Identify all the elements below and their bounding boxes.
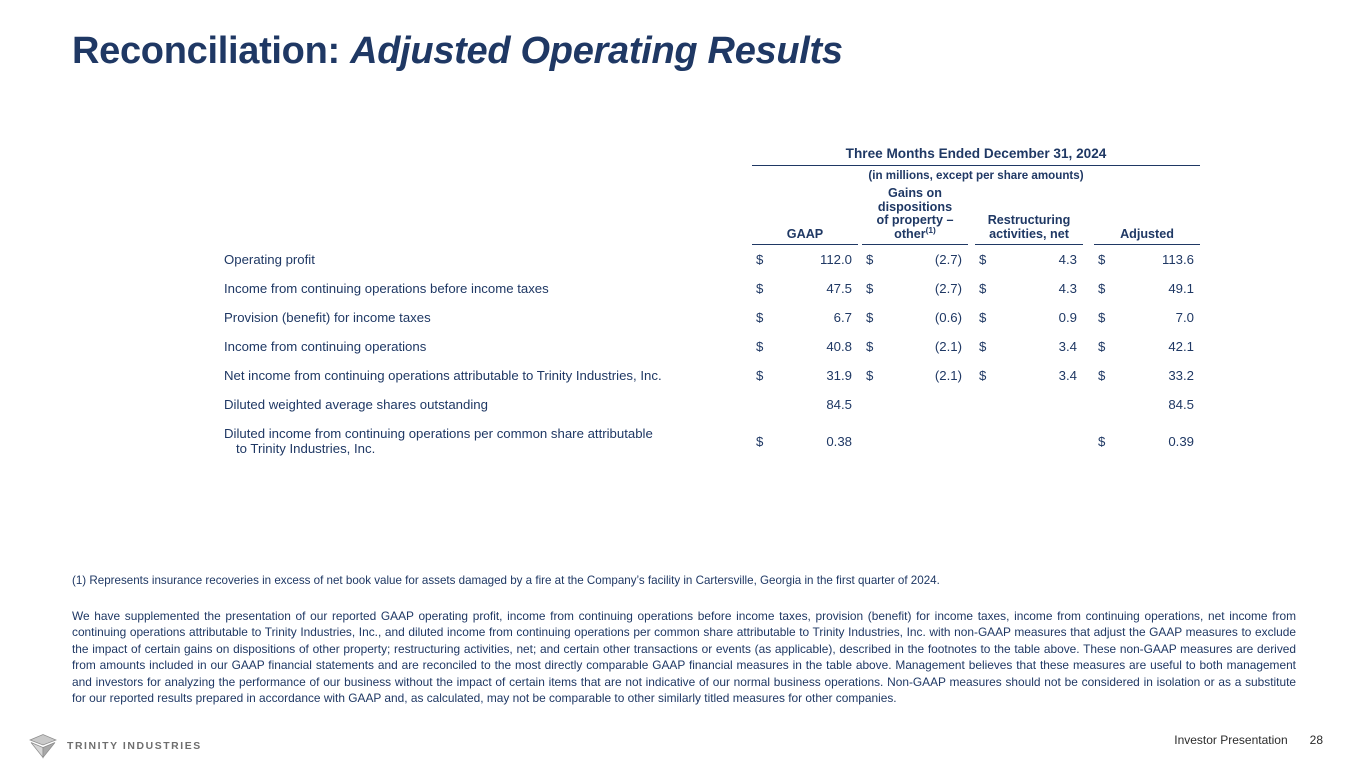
cell-gap [1083,274,1094,303]
row-label-line1: Operating profit [224,252,315,267]
cell-value: (0.6) [935,310,962,325]
header-spacer [222,146,752,166]
currency-symbol: $ [979,368,986,383]
row-label-line1: Provision (benefit) for income taxes [224,310,431,325]
cell-value: (2.1) [935,368,962,383]
period-header: Three Months Ended December 31, 2024 [752,146,1200,166]
cell-value: 0.39 [1168,434,1194,449]
row-label: Diluted weighted average shares outstand… [222,390,752,419]
cell-value: 42.1 [1168,339,1194,354]
gains-header-line4: other [894,227,925,241]
cell-adjusted: 84.5 [1094,390,1200,419]
column-gap-3 [1083,187,1094,245]
table-row: Operating profit$112.0$(2.7)$4.3$113.6 [222,245,1200,275]
row-label: Net income from continuing operations at… [222,361,752,390]
table-head: Three Months Ended December 31, 2024 (in… [222,146,1200,245]
row-label-line1: Diluted weighted average shares outstand… [224,397,488,412]
cell-value: (2.7) [935,281,962,296]
column-header-restructuring: Restructuring activities, net [975,187,1083,245]
footnote-text: (1) Represents insurance recoveries in e… [72,573,1296,588]
cell-value: 4.3 [1059,252,1077,267]
restructuring-header-line1: Restructuring [988,213,1071,227]
cell-value: 112.0 [820,252,852,267]
column-header-gaap: GAAP [752,187,858,245]
cell-adjusted: $113.6 [1094,245,1200,275]
cell-restructuring: $0.9 [975,303,1083,332]
cell-adjusted: $42.1 [1094,332,1200,361]
row-label: Operating profit [222,245,752,275]
currency-symbol: $ [866,310,873,325]
cell-gap [968,245,975,275]
currency-symbol: $ [866,281,873,296]
presentation-label: Investor Presentation [1174,733,1287,747]
cell-gap [968,332,975,361]
table-body: Operating profit$112.0$(2.7)$4.3$113.6In… [222,245,1200,464]
cell-adjusted: $7.0 [1094,303,1200,332]
gains-header-line2: dispositions [878,200,952,214]
currency-symbol: $ [756,281,763,296]
cell-value: 0.38 [826,434,852,449]
cell-gap [1083,332,1094,361]
cell-gains-on-dispositions: $(0.6) [862,303,968,332]
reconciliation-table: Three Months Ended December 31, 2024 (in… [222,146,1200,463]
restructuring-header-line2: activities, net [989,227,1069,241]
currency-symbol: $ [979,310,986,325]
gains-header-line1: Gains on [888,186,942,200]
row-label-line1: Income from continuing operations before… [224,281,549,296]
currency-symbol: $ [1098,434,1105,449]
currency-symbol: $ [756,434,763,449]
currency-symbol: $ [756,310,763,325]
currency-symbol: $ [1098,339,1105,354]
row-label: Income from continuing operations before… [222,274,752,303]
cell-adjusted: $33.2 [1094,361,1200,390]
currency-symbol: $ [756,252,763,267]
cell-gap [968,303,975,332]
cell-value: 47.5 [826,281,852,296]
row-label: Provision (benefit) for income taxes [222,303,752,332]
currency-symbol: $ [979,252,986,267]
cell-gaap: $31.9 [752,361,858,390]
cell-gains-on-dispositions: $(2.7) [862,245,968,275]
reconciliation-table-wrapper: Three Months Ended December 31, 2024 (in… [0,146,1365,463]
table-row: Income from continuing operations before… [222,274,1200,303]
units-header-row: (in millions, except per share amounts) [222,166,1200,188]
currency-symbol: $ [756,339,763,354]
cell-gaap: $0.38 [752,419,858,463]
row-label-line2: to Trinity Industries, Inc. [224,441,742,456]
cell-value: 40.8 [826,339,852,354]
column-header-row: GAAP Gains on dispositions of property –… [222,187,1200,245]
cell-gap [1083,361,1094,390]
cell-gains-on-dispositions [862,419,968,463]
footer-logo-text: TRINITY INDUSTRIES [67,741,202,752]
header-spacer-3 [222,187,752,245]
table-row: Income from continuing operations$40.8$(… [222,332,1200,361]
currency-symbol: $ [979,339,986,354]
cell-adjusted: $0.39 [1094,419,1200,463]
gains-header-line3: of property – [877,213,954,227]
cell-value: 3.4 [1059,368,1077,383]
currency-symbol: $ [979,281,986,296]
cell-value: 6.7 [834,310,852,325]
cell-value: 4.3 [1059,281,1077,296]
cell-value: (2.1) [935,339,962,354]
cell-gap [1083,390,1094,419]
footer-logo: TRINITY INDUSTRIES [28,733,202,759]
cell-restructuring [975,419,1083,463]
cell-restructuring: $3.4 [975,361,1083,390]
non-gaap-disclosure-paragraph: We have supplemented the presentation of… [72,608,1296,706]
cell-gaap: $47.5 [752,274,858,303]
column-header-adjusted: Adjusted [1094,187,1200,245]
row-label: Income from continuing operations [222,332,752,361]
currency-symbol: $ [1098,281,1105,296]
currency-symbol: $ [1098,310,1105,325]
cell-restructuring: $4.3 [975,274,1083,303]
cell-gap [968,361,975,390]
footnote-marker: (1) [926,225,936,235]
table-row: Diluted income from continuing operation… [222,419,1200,463]
cell-value: 49.1 [1168,281,1194,296]
row-label-line1: Diluted income from continuing operation… [224,426,653,441]
header-spacer-2 [222,166,752,188]
cell-gains-on-dispositions: $(2.1) [862,332,968,361]
cell-gaap: $112.0 [752,245,858,275]
cell-gains-on-dispositions: $(2.7) [862,274,968,303]
cell-restructuring: $4.3 [975,245,1083,275]
cell-gap [1083,419,1094,463]
column-gap-2 [968,187,975,245]
cell-gap [1083,303,1094,332]
currency-symbol: $ [866,252,873,267]
cell-value: 3.4 [1059,339,1077,354]
row-label: Diluted income from continuing operation… [222,419,752,463]
trinity-logo-icon [28,733,58,759]
currency-symbol: $ [866,368,873,383]
page-number: 28 [1310,733,1323,747]
table-row: Provision (benefit) for income taxes$6.7… [222,303,1200,332]
cell-value: 31.9 [826,368,852,383]
row-label-line1: Net income from continuing operations at… [224,368,662,383]
cell-value: 7.0 [1176,310,1194,325]
cell-gaap: 84.5 [752,390,858,419]
cell-gains-on-dispositions [862,390,968,419]
footer-right: Investor Presentation 28 [1174,733,1323,747]
page-title-accent: Adjusted Operating Results [350,30,843,72]
table-row: Diluted weighted average shares outstand… [222,390,1200,419]
page-title-prefix: Reconciliation: [72,30,350,72]
page-title: Reconciliation: Adjusted Operating Resul… [72,30,843,73]
units-header: (in millions, except per share amounts) [752,166,1200,188]
row-label-line1: Income from continuing operations [224,339,426,354]
cell-gaap: $40.8 [752,332,858,361]
cell-value: 33.2 [1168,368,1194,383]
cell-restructuring [975,390,1083,419]
cell-gains-on-dispositions: $(2.1) [862,361,968,390]
cell-gaap: $6.7 [752,303,858,332]
cell-value: 84.5 [1168,397,1194,412]
column-header-gains-on-dispositions: Gains on dispositions of property – othe… [862,187,968,245]
cell-value: 113.6 [1162,252,1194,267]
cell-adjusted: $49.1 [1094,274,1200,303]
cell-value: 0.9 [1059,310,1077,325]
cell-value: 84.5 [826,397,852,412]
currency-symbol: $ [756,368,763,383]
cell-restructuring: $3.4 [975,332,1083,361]
period-header-row: Three Months Ended December 31, 2024 [222,146,1200,166]
cell-gap [968,274,975,303]
cell-gap [968,419,975,463]
cell-gap [968,390,975,419]
cell-gap [1083,245,1094,275]
table-row: Net income from continuing operations at… [222,361,1200,390]
currency-symbol: $ [1098,368,1105,383]
currency-symbol: $ [1098,252,1105,267]
currency-symbol: $ [866,339,873,354]
cell-value: (2.7) [935,252,962,267]
